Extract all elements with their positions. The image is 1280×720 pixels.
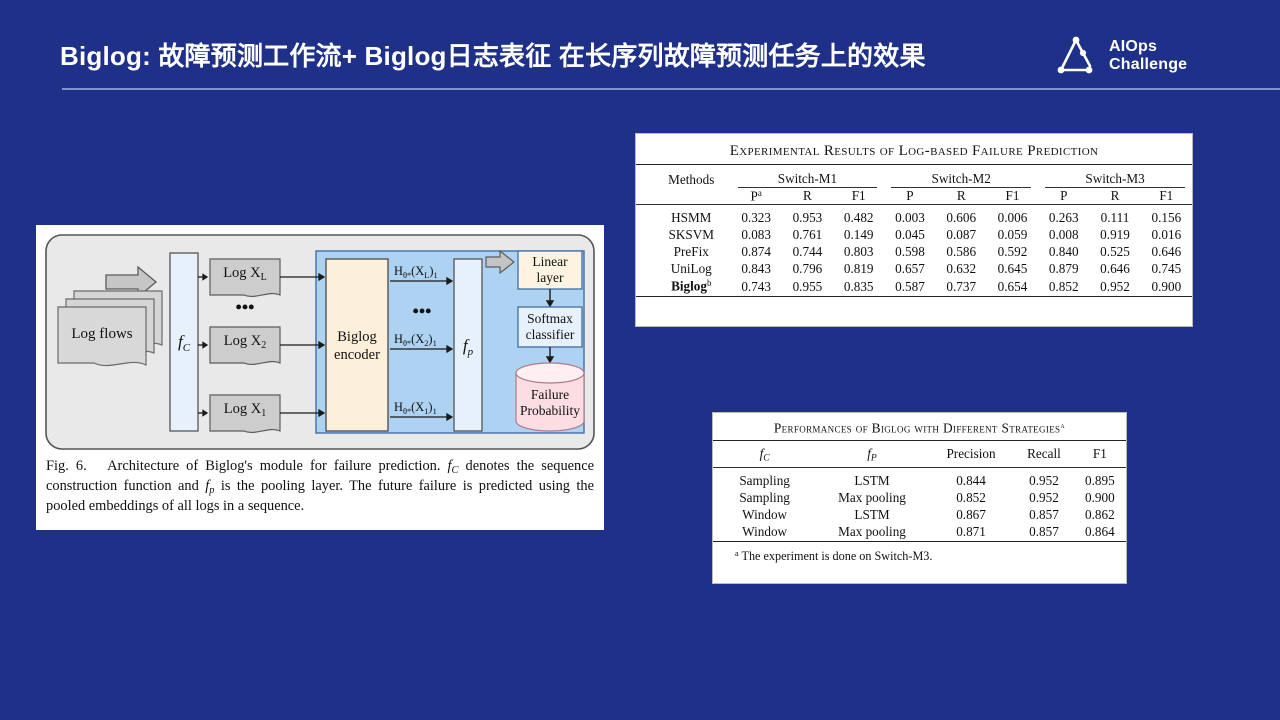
log-x-1-label: Log X1: [224, 401, 266, 419]
page-title: Biglog: 故障预测工作流+ Biglog日志表征 在长序列故障预测任务上的…: [60, 36, 926, 73]
metric-value: 0.586: [936, 244, 987, 261]
metric-header-8: F1: [1141, 188, 1192, 205]
metric-header-0: Pa: [731, 188, 782, 205]
biglog-architecture-diagram: Log flows fC Log XL Log X2 Log X1 •••: [44, 233, 596, 451]
metric-value: 0.761: [782, 227, 833, 244]
table-results-metric-header-row: Pa R F1 P R F1 P R F1: [636, 188, 1192, 205]
metric-value: 0.857: [1014, 524, 1073, 542]
log-x-l-label: Log XL: [223, 265, 267, 283]
metric-value: 0.900: [1074, 490, 1126, 507]
output-line1: Failure: [531, 387, 569, 402]
strategies-header-fp: fP: [816, 440, 928, 468]
metric-value: 0.895: [1074, 468, 1126, 491]
metric-value: 0.835: [833, 278, 884, 296]
logs-ellipsis: •••: [236, 297, 255, 317]
metric-value: 0.059: [987, 227, 1038, 244]
biglog-encoder-block: [326, 259, 388, 431]
metric-value: 0.955: [782, 278, 833, 296]
metric-value: 0.016: [1141, 227, 1192, 244]
fp-block: [454, 259, 482, 431]
table-strategies-grid: fC fP Precision Recall F1 SamplingLSTM0.…: [713, 440, 1126, 546]
output-line2: Probability: [520, 403, 580, 418]
metric-value: 0.900: [1141, 278, 1192, 296]
embedding-label-2: Hθ*(X2)1: [394, 332, 437, 348]
metric-value: 0.646: [1089, 261, 1140, 278]
table-row: SamplingMax pooling0.8520.9520.900: [713, 490, 1126, 507]
title-divider: [62, 88, 1280, 90]
metric-value: 0.952: [1014, 468, 1073, 491]
metric-value: 0.879: [1038, 261, 1089, 278]
metric-header-7: R: [1089, 188, 1140, 205]
metric-value: 0.737: [936, 278, 987, 296]
metric-value: 0.796: [782, 261, 833, 278]
method-name: SKSVM: [636, 227, 731, 244]
table-strategies-header-row: fC fP Precision Recall F1: [713, 440, 1126, 468]
embedding-label-l: Hθ*(XL)1: [394, 264, 438, 280]
table-row: SamplingLSTM0.8440.9520.895: [713, 468, 1126, 491]
table-results-group-2: Switch-M2: [884, 165, 1038, 188]
metric-value: 0.008: [1038, 227, 1089, 244]
metric-value: 0.852: [1038, 278, 1089, 296]
table-results-methods-header: Methods: [636, 165, 731, 189]
method-name: PreFix: [636, 244, 731, 261]
metric-header-4: R: [936, 188, 987, 205]
metric-value: 0.592: [987, 244, 1038, 261]
strategy-fp: Max pooling: [816, 524, 928, 542]
encoder-label-line1: Biglog: [337, 329, 376, 345]
brand-name-line1: AIOps: [1109, 38, 1187, 56]
metric-value: 0.006: [987, 205, 1038, 228]
figure-caption: Fig. 6. Architecture of Biglog's module …: [46, 457, 594, 515]
table-results-body: HSMM0.3230.9530.4820.0030.6060.0060.2630…: [636, 205, 1192, 301]
metric-value: 0.852: [928, 490, 1015, 507]
metric-value: 0.743: [731, 278, 782, 296]
softmax-line2: classifier: [526, 327, 575, 342]
aiops-node-graph-icon: [1052, 32, 1100, 80]
metric-value: 0.045: [884, 227, 935, 244]
table-strategies-note: a The experiment is done on Switch-M3.: [713, 545, 1126, 564]
strategy-fp: LSTM: [816, 507, 928, 524]
method-name: Biglogb: [636, 278, 731, 296]
method-name: UniLog: [636, 261, 731, 278]
table-row: WindowMax pooling0.8710.8570.864: [713, 524, 1126, 542]
table-results-caption: Experimental Results of Log-based Failur…: [636, 134, 1192, 164]
metric-value: 0.482: [833, 205, 884, 228]
strategies-header-fc: fC: [713, 440, 816, 468]
brand-name-line2: Challenge: [1109, 56, 1187, 74]
table-results-grid: Methods Switch-M1 Switch-M2 Switch-M3 Pa…: [636, 164, 1192, 301]
metric-value: 0.840: [1038, 244, 1089, 261]
metric-value: 0.263: [1038, 205, 1089, 228]
figure-caption-label: Fig. 6.: [46, 458, 87, 474]
metric-value: 0.874: [731, 244, 782, 261]
strategies-performance-table: Performances of Biglog with Different St…: [712, 412, 1127, 584]
table-results-group-3: Switch-M3: [1038, 165, 1192, 188]
strategy-fp: LSTM: [816, 468, 928, 491]
metric-value: 0.654: [987, 278, 1038, 296]
metric-value: 0.087: [936, 227, 987, 244]
metric-value: 0.745: [1141, 261, 1192, 278]
metric-value: 0.952: [1089, 278, 1140, 296]
metric-value: 0.083: [731, 227, 782, 244]
strategy-fc: Sampling: [713, 468, 816, 491]
strategy-fc: Window: [713, 524, 816, 542]
metric-value: 0.871: [928, 524, 1015, 542]
metric-value: 0.646: [1141, 244, 1192, 261]
table-results-group-1: Switch-M1: [731, 165, 885, 188]
metric-value: 0.156: [1141, 205, 1192, 228]
figure-panel: Log flows fC Log XL Log X2 Log X1 •••: [36, 225, 604, 530]
table-strategies-body: SamplingLSTM0.8440.9520.895SamplingMax p…: [713, 468, 1126, 546]
embedding-label-1: Hθ*(X1)1: [394, 400, 437, 416]
metric-value: 0.003: [884, 205, 935, 228]
metric-value: 0.525: [1089, 244, 1140, 261]
metric-header-3: P: [884, 188, 935, 205]
metric-value: 0.149: [833, 227, 884, 244]
metric-header-1: R: [782, 188, 833, 205]
table-row: UniLog0.8430.7960.8190.6570.6320.6450.87…: [636, 261, 1192, 278]
encoder-label-line2: encoder: [334, 347, 380, 363]
metric-value: 0.862: [1074, 507, 1126, 524]
metric-value: 0.632: [936, 261, 987, 278]
strategies-header-precision: Precision: [928, 440, 1015, 468]
metric-value: 0.864: [1074, 524, 1126, 542]
strategies-header-recall: Recall: [1014, 440, 1073, 468]
strategy-fp: Max pooling: [816, 490, 928, 507]
experimental-results-table: Experimental Results of Log-based Failur…: [635, 133, 1193, 327]
note-marker: a: [735, 549, 739, 558]
note-text: The experiment is done on Switch-M3.: [742, 549, 933, 563]
metric-header-5: F1: [987, 188, 1038, 205]
table-row: PreFix0.8740.7440.8030.5980.5860.5920.84…: [636, 244, 1192, 261]
metric-value: 0.844: [928, 468, 1015, 491]
embeddings-ellipsis: •••: [413, 301, 432, 321]
metric-value: 0.919: [1089, 227, 1140, 244]
strategies-header-f1: F1: [1074, 440, 1126, 468]
table-strategies-caption: Performances of Biglog with Different St…: [713, 413, 1126, 440]
log-x-2-label: Log X2: [224, 333, 266, 351]
table-row: WindowLSTM0.8670.8570.862: [713, 507, 1126, 524]
metric-value: 0.111: [1089, 205, 1140, 228]
metric-header-2: F1: [833, 188, 884, 205]
metric-value: 0.606: [936, 205, 987, 228]
strategy-fc: Sampling: [713, 490, 816, 507]
table-bottom-rule: [636, 296, 1192, 301]
metric-value: 0.819: [833, 261, 884, 278]
log-flows-label: Log flows: [71, 326, 132, 342]
metric-value: 0.857: [1014, 507, 1073, 524]
metric-header-6: P: [1038, 188, 1089, 205]
slide-header: Biglog: 故障预测工作流+ Biglog日志表征 在长序列故障预测任务上的…: [0, 0, 1280, 100]
strategy-fc: Window: [713, 507, 816, 524]
metric-value: 0.645: [987, 261, 1038, 278]
brand-logo: AIOps Challenge: [1052, 30, 1222, 82]
metric-value: 0.803: [833, 244, 884, 261]
brand-name: AIOps Challenge: [1109, 38, 1187, 74]
table-results-group-header-row: Methods Switch-M1 Switch-M2 Switch-M3: [636, 165, 1192, 188]
metric-value: 0.953: [782, 205, 833, 228]
linear-layer-line2: layer: [537, 270, 564, 285]
metric-value: 0.843: [731, 261, 782, 278]
metric-value: 0.598: [884, 244, 935, 261]
method-name: HSMM: [636, 205, 731, 228]
metric-value: 0.744: [782, 244, 833, 261]
table-row: HSMM0.3230.9530.4820.0030.6060.0060.2630…: [636, 205, 1192, 228]
table-row: Biglogb0.7430.9550.8350.5870.7370.6540.8…: [636, 278, 1192, 296]
table-row: SKSVM0.0830.7610.1490.0450.0870.0590.008…: [636, 227, 1192, 244]
metric-value: 0.323: [731, 205, 782, 228]
metric-value: 0.952: [1014, 490, 1073, 507]
linear-layer-line1: Linear: [532, 254, 568, 269]
metric-value: 0.867: [928, 507, 1015, 524]
softmax-line1: Softmax: [527, 311, 573, 326]
metric-value: 0.657: [884, 261, 935, 278]
metric-value: 0.587: [884, 278, 935, 296]
